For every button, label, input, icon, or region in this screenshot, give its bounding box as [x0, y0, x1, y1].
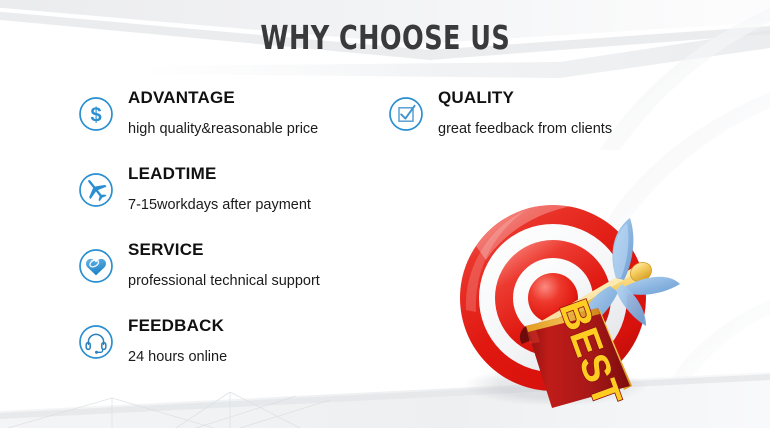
why-choose-us-banner: WHY CHOOSE US $ ADVANTAGE high quality&r… [0, 0, 770, 428]
feature-title: ADVANTAGE [128, 88, 378, 108]
feature-title: LEADTIME [128, 164, 378, 184]
heart-circle-icon [78, 248, 114, 284]
page-title: WHY CHOOSE US [260, 20, 510, 56]
dollar-circle-icon: $ [78, 96, 114, 132]
feature-item-leadtime: LEADTIME 7-15workdays after payment [78, 164, 378, 214]
feature-item-advantage: $ ADVANTAGE high quality&reasonable pric… [78, 88, 378, 138]
feature-item-feedback: FEEDBACK 24 hours online [78, 316, 378, 366]
feature-column-left: $ ADVANTAGE high quality&reasonable pric… [78, 88, 378, 392]
feature-description: professional technical support [128, 272, 378, 290]
feature-column-right: QUALITY great feedback from clients [388, 88, 688, 164]
feature-title: FEEDBACK [128, 316, 378, 336]
page-title-wrap: WHY CHOOSE US [0, 20, 770, 56]
feature-description: 24 hours online [128, 348, 378, 366]
feature-description: great feedback from clients [438, 120, 688, 138]
headset-circle-icon [78, 324, 114, 360]
feature-title: QUALITY [438, 88, 688, 108]
feature-description: 7-15workdays after payment [128, 196, 378, 214]
svg-text:$: $ [90, 105, 101, 127]
feature-item-quality: QUALITY great feedback from clients [388, 88, 688, 138]
dartboard-with-dart-graphic: BEST [440, 190, 680, 420]
feature-title: SERVICE [128, 240, 378, 260]
feature-item-service: SERVICE professional technical support [78, 240, 378, 290]
checkbox-circle-icon [388, 96, 424, 132]
feature-description: high quality&reasonable price [128, 120, 378, 138]
airplane-circle-icon [78, 172, 114, 208]
